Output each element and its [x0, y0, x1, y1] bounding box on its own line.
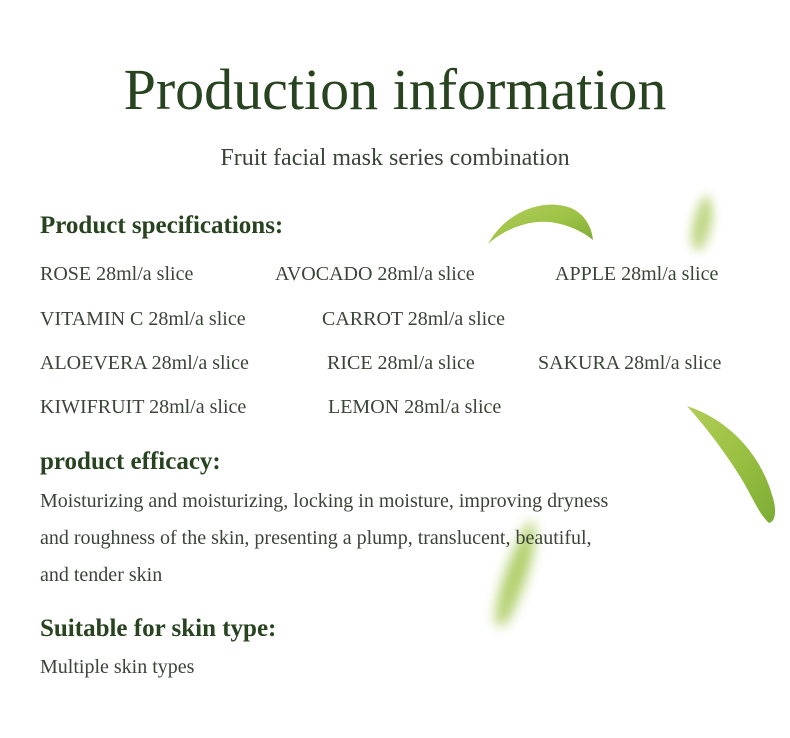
specification-item: SAKURA 28ml/a slice [538, 349, 721, 377]
efficacy-line: and roughness of the skin, presenting a … [40, 520, 760, 557]
specification-item: KIWIFRUIT 28ml/a slice [40, 393, 246, 421]
specification-item: CARROT 28ml/a slice [322, 305, 505, 333]
specification-item: RICE 28ml/a slice [327, 349, 475, 377]
efficacy-text: Moisturizing and moisturizing, locking i… [40, 483, 760, 594]
leaf-icon-top-center [485, 196, 595, 256]
specification-row: ROSE 28ml/a slice AVOCADO 28ml/a slice A… [40, 260, 780, 288]
leaf-icon-top-right [682, 192, 728, 254]
specification-item: ROSE 28ml/a slice [40, 260, 193, 288]
specification-row: KIWIFRUIT 28ml/a slice LEMON 28ml/a slic… [40, 393, 780, 421]
specification-item: APPLE 28ml/a slice [555, 260, 718, 288]
page-subtitle: Fruit facial mask series combination [0, 142, 790, 174]
section-heading-efficacy: product efficacy: [40, 446, 221, 478]
efficacy-line: Moisturizing and moisturizing, locking i… [40, 483, 760, 520]
specification-row: VITAMIN C 28ml/a slice CARROT 28ml/a sli… [40, 305, 780, 333]
specification-item: LEMON 28ml/a slice [328, 393, 501, 421]
poster-root: Production information Fruit facial mask… [0, 0, 790, 738]
page-title: Production information [0, 56, 790, 124]
specification-row: ALOEVERA 28ml/a slice RICE 28ml/a slice … [40, 349, 780, 377]
section-heading-specifications: Product specifications: [40, 210, 283, 242]
specification-item: AVOCADO 28ml/a slice [275, 260, 475, 288]
section-heading-skin-type: Suitable for skin type: [40, 613, 276, 645]
specification-item: ALOEVERA 28ml/a slice [40, 349, 249, 377]
efficacy-line: and tender skin [40, 557, 760, 594]
skin-type-value: Multiple skin types [40, 652, 194, 682]
specification-item: VITAMIN C 28ml/a slice [40, 305, 246, 333]
